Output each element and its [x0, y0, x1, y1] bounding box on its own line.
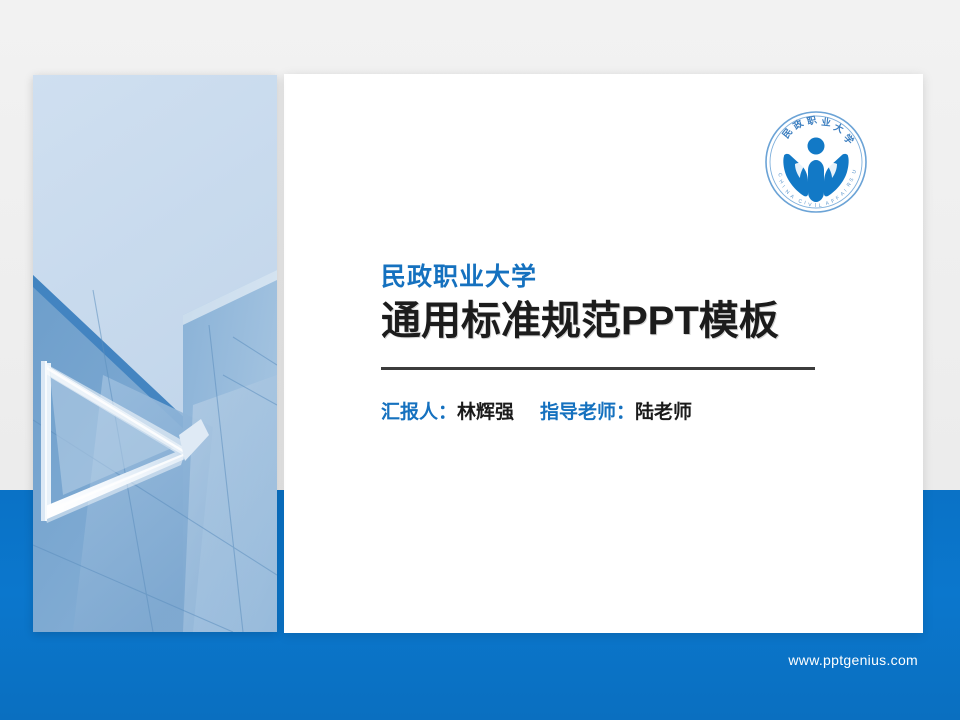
svg-text:学: 学 — [841, 132, 857, 148]
architecture-photo — [33, 75, 277, 632]
presenter-name: 林辉强 — [457, 402, 514, 423]
svg-text:F: F — [835, 195, 841, 202]
slide-canvas: 民 政 职 业 大 学 C H I N A C I V I L A F — [0, 0, 960, 720]
svg-text:I: I — [815, 203, 817, 209]
svg-text:I: I — [804, 200, 807, 206]
svg-text:A: A — [825, 200, 830, 207]
byline: 汇报人：林辉强指导老师：陆老师 — [381, 397, 841, 424]
advisor-label: 指导老师： — [540, 402, 635, 423]
title-divider — [381, 367, 815, 370]
svg-text:民: 民 — [781, 127, 796, 141]
title-block: 民政职业大学 通用标准规范PPT模板 汇报人：林辉强指导老师：陆老师 — [381, 262, 841, 424]
svg-text:大: 大 — [832, 121, 846, 136]
svg-text:政: 政 — [791, 117, 806, 133]
svg-text:F: F — [831, 198, 836, 205]
svg-text:职: 职 — [806, 115, 819, 128]
footer-url[interactable]: www.pptgenius.com — [0, 652, 918, 668]
svg-text:S: S — [849, 177, 856, 183]
svg-text:业: 业 — [821, 116, 832, 129]
svg-text:N: N — [784, 189, 791, 196]
svg-text:U: U — [851, 169, 858, 175]
presenter-label: 汇报人： — [381, 402, 457, 423]
slide-title: 通用标准规范PPT模板 — [381, 298, 841, 345]
svg-text:C: C — [797, 198, 803, 205]
svg-text:L: L — [819, 203, 823, 209]
svg-text:I: I — [843, 188, 848, 193]
svg-text:I: I — [781, 184, 786, 189]
university-name: 民政职业大学 — [381, 262, 841, 292]
advisor-name: 陆老师 — [635, 402, 692, 423]
university-logo: 民 政 职 业 大 学 C H I N A C I V I L A F — [762, 108, 870, 216]
